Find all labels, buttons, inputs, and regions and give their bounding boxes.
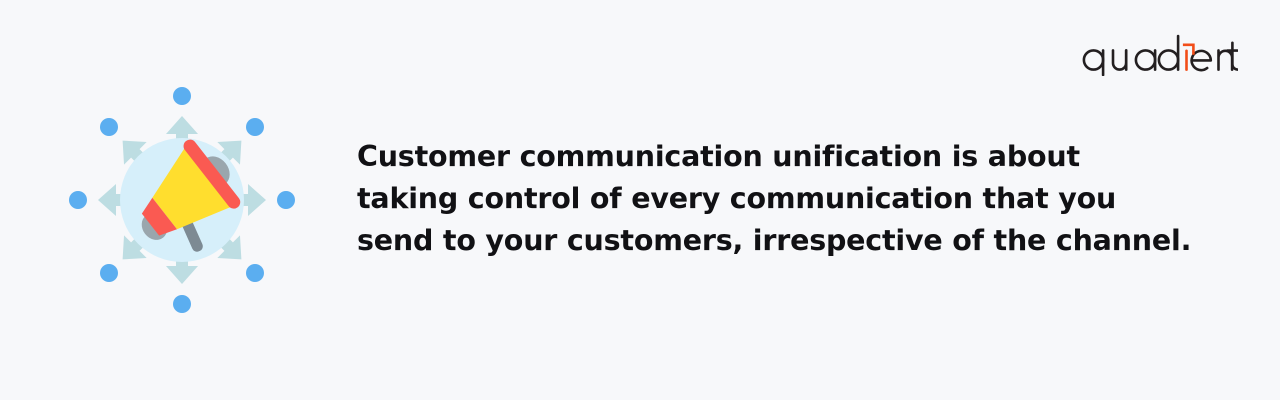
dot-down-right xyxy=(246,264,264,282)
dot-down-left xyxy=(100,264,118,282)
megaphone-broadcast-svg xyxy=(57,75,307,325)
logo-letter-d-bowl xyxy=(1159,50,1178,69)
megaphone-broadcast-icon xyxy=(57,75,307,325)
logo-wordmark xyxy=(1084,36,1232,75)
logo-letter-a-bowl xyxy=(1136,50,1155,69)
logo-letter-t xyxy=(1227,43,1237,70)
quadient-logo-svg xyxy=(1080,30,1238,76)
dot-up-left xyxy=(100,118,118,136)
headline-line-2: taking control of every communication th… xyxy=(357,178,1217,220)
headline-line-3: send to your customers, irrespective of … xyxy=(357,220,1217,262)
headline-line-1: Customer communication unification is ab… xyxy=(357,136,1217,178)
banner-root: quadient xyxy=(0,0,1280,400)
dot-right xyxy=(277,191,295,209)
dot-down xyxy=(173,295,191,313)
dot-up xyxy=(173,87,191,105)
logo-letter-u-bowl xyxy=(1113,50,1126,69)
quadient-logo: quadient xyxy=(1080,30,1238,76)
logo-letter-n xyxy=(1219,50,1233,69)
page-title: Customer communication unification is ab… xyxy=(357,136,1217,262)
dot-up-right xyxy=(246,118,264,136)
dot-left xyxy=(69,191,87,209)
logo-letter-q-bowl xyxy=(1084,50,1103,69)
